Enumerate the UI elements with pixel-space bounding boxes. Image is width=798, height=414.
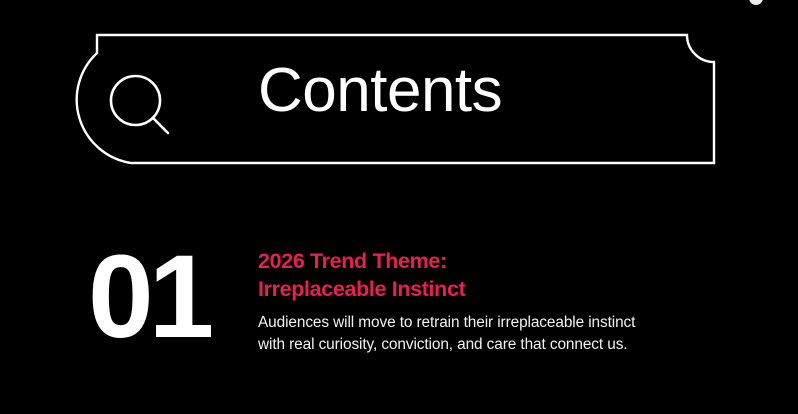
entry-number: 01 bbox=[88, 238, 228, 356]
entry-description-line-2: with real curiosity, conviction, and car… bbox=[258, 334, 718, 356]
entry-description: Audiences will move to retrain their irr… bbox=[258, 312, 718, 356]
entry-text-block: 2026 Trend Theme: Irreplaceable Instinct… bbox=[258, 248, 718, 356]
contents-slide: Contents 01 2026 Trend Theme: Irreplacea… bbox=[0, 0, 798, 414]
contents-entry[interactable]: 01 2026 Trend Theme: Irreplaceable Insti… bbox=[0, 238, 798, 378]
magnifying-glass-circle-icon bbox=[111, 76, 160, 125]
clipped-circle-mark-icon bbox=[749, 0, 763, 5]
entry-heading-line-1: 2026 Trend Theme: bbox=[258, 248, 718, 276]
entry-description-line-1: Audiences will move to retrain their irr… bbox=[258, 312, 718, 334]
page-title: Contents bbox=[258, 60, 502, 122]
entry-heading-line-2: Irreplaceable Instinct bbox=[258, 276, 718, 304]
magnifying-glass-handle-icon bbox=[153, 118, 168, 133]
